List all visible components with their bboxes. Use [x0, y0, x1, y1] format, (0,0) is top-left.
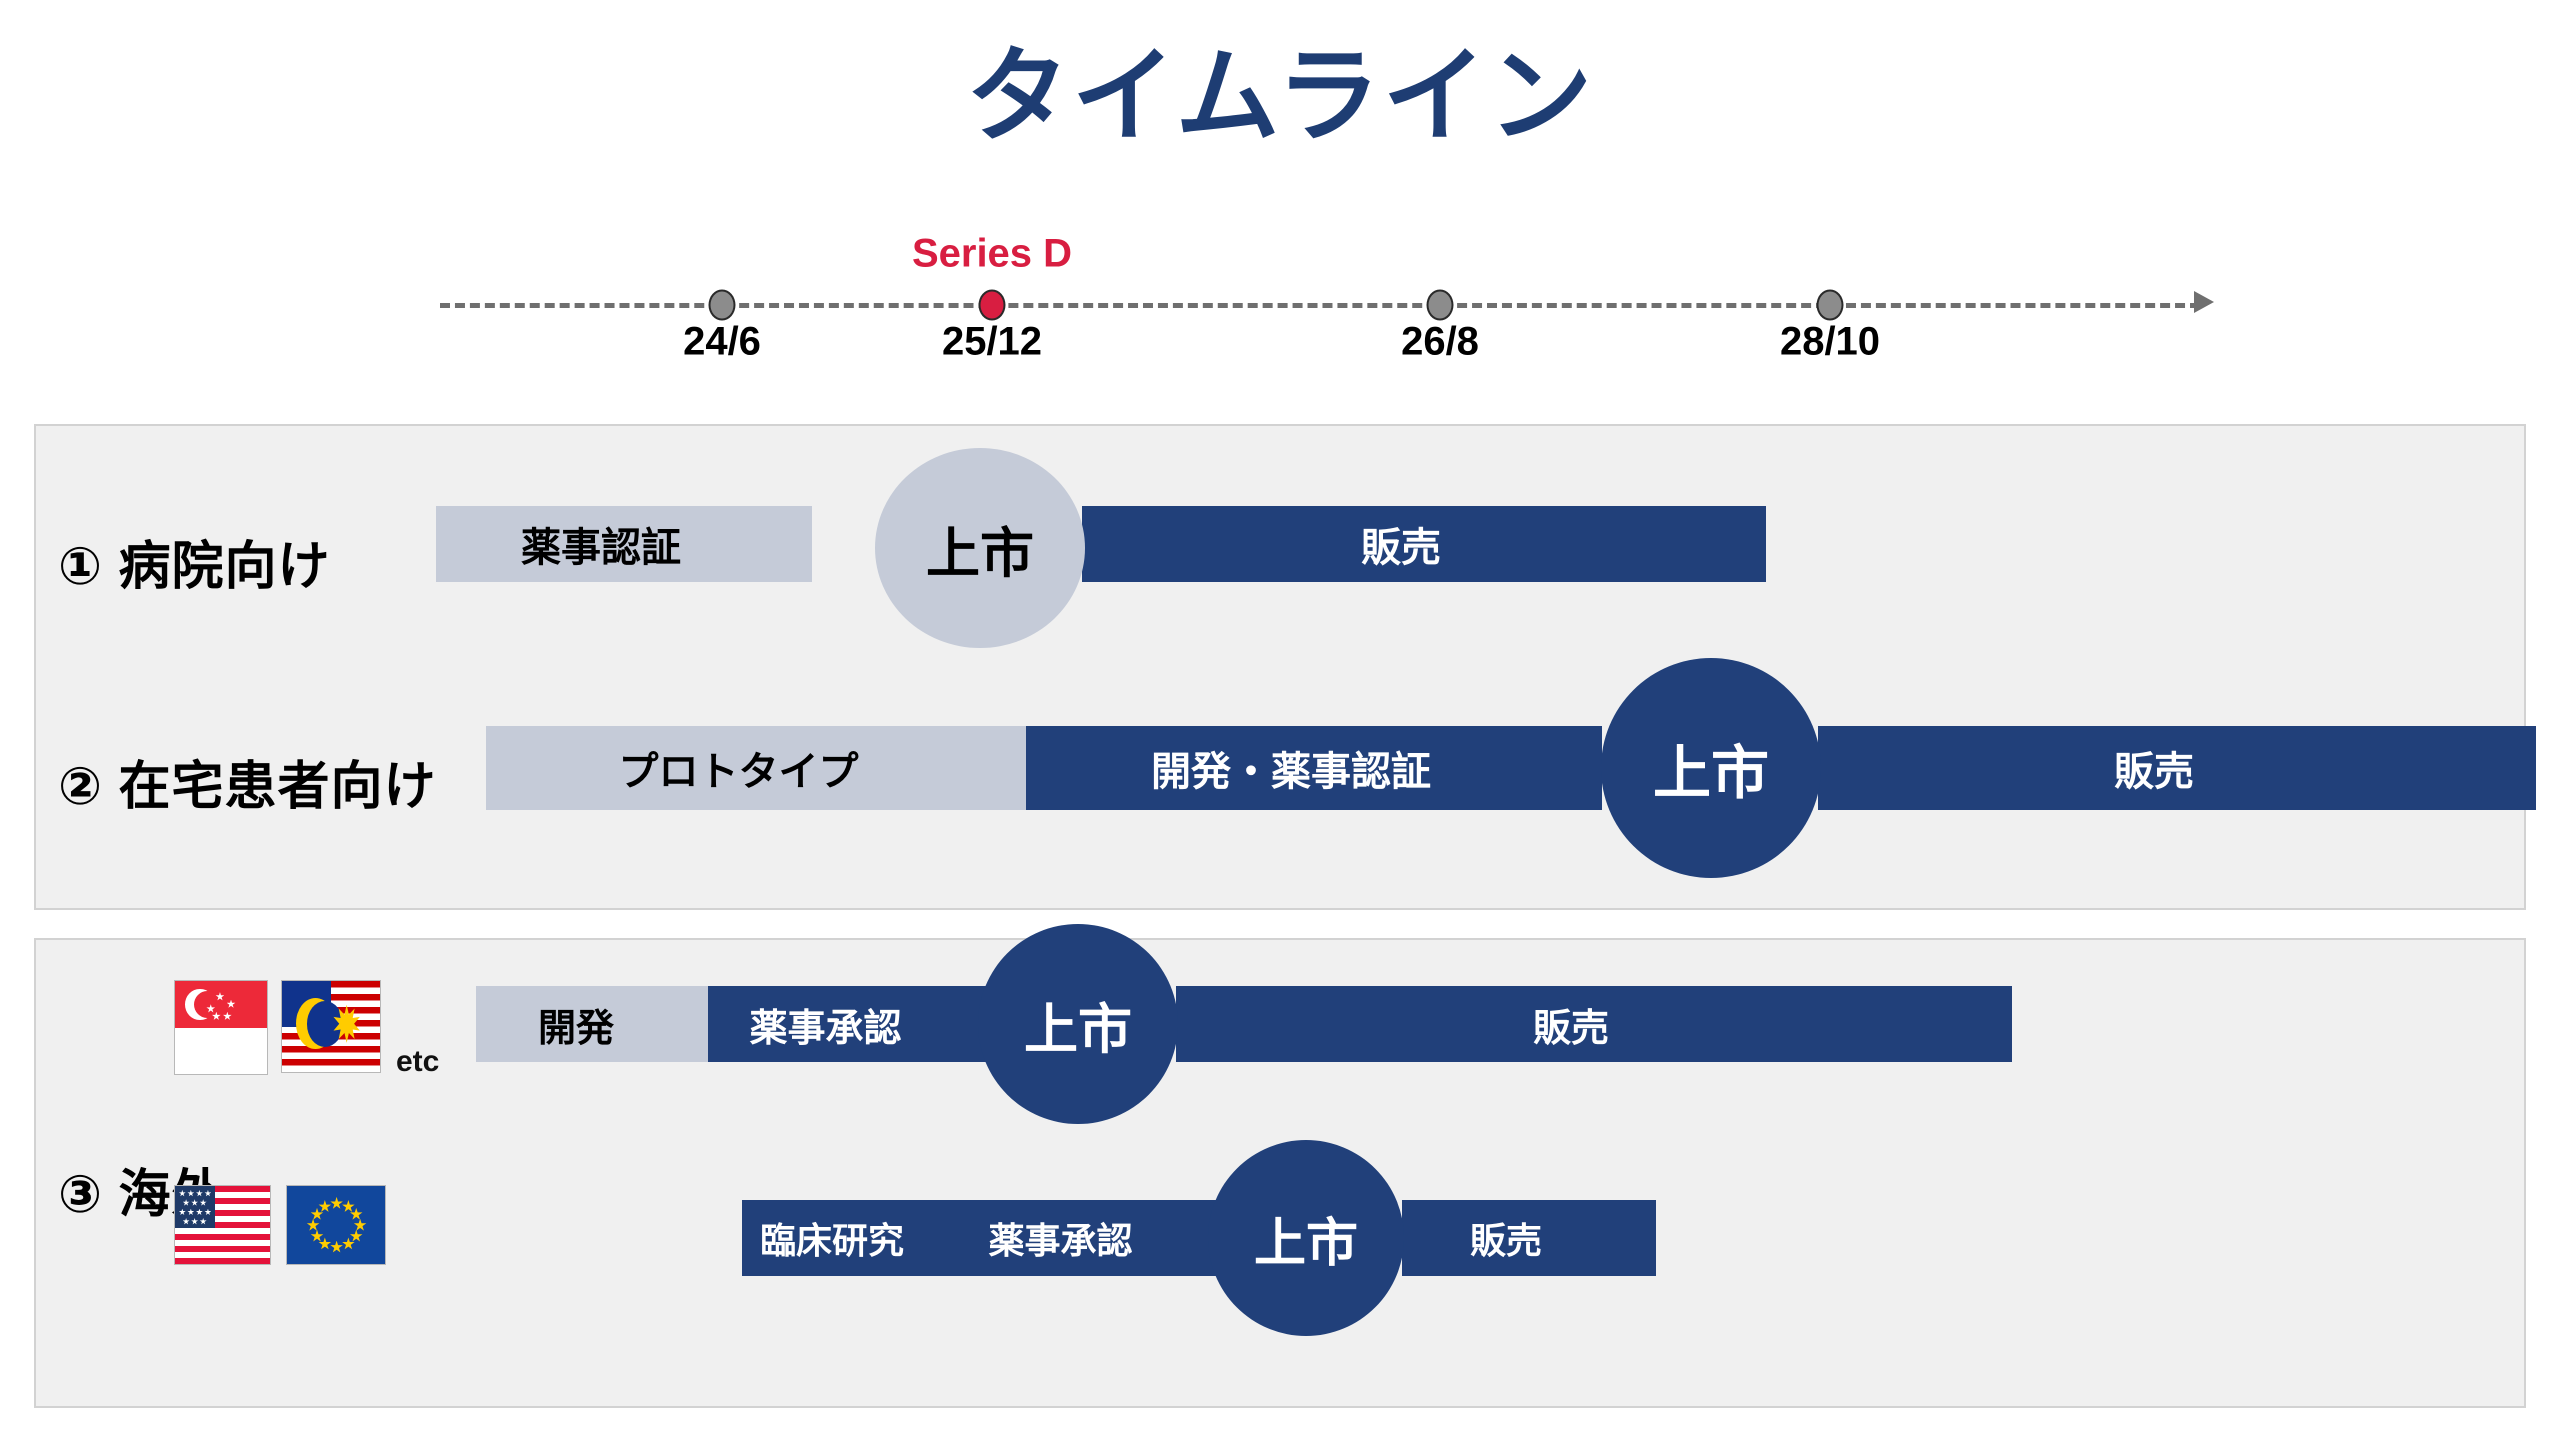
launch-circle-overseas-asia[interactable]: 上市 [978, 924, 1178, 1124]
stage-label: 開発・薬事認証 [1151, 739, 1431, 797]
timeline-axis-group: 24/6 Series D 25/12 26/8 28/10 [440, 300, 2200, 310]
stage-home-sales[interactable]: 販売 [1818, 726, 2490, 810]
timeline-dot-icon [1817, 290, 1844, 321]
timeline-caption-series-d: Series D [912, 232, 1072, 277]
timeline-date-label: 28/10 [1780, 320, 1880, 365]
stage-label: 開発 [538, 997, 614, 1052]
row-label-hospital: ① 病院向け [58, 524, 330, 599]
timeline-dot-icon [979, 290, 1006, 321]
timeline-dashed-line [440, 303, 2200, 308]
stage-home-prototype[interactable]: プロトタイプ [486, 726, 991, 810]
stage-overseas-west-clinical[interactable]: 臨床研究 [742, 1200, 922, 1276]
chevron-arrow-icon [1720, 506, 1766, 582]
timeline-date-label: 26/8 [1401, 320, 1479, 365]
panel-domestic: ① 病院向け 薬事認証 上市 販売 ② 在宅患者向け プロトタイプ 開発・薬事認… [34, 424, 2526, 910]
chevron-arrow-icon [1610, 1200, 1656, 1276]
stage-label: 薬事認証 [521, 515, 681, 573]
stage-label: プロトタイプ [619, 739, 859, 797]
chevron-arrow-icon [2490, 726, 2536, 810]
chevron-arrow-icon [1556, 726, 1602, 810]
flag-usa-icon [174, 1185, 271, 1265]
launch-circle-overseas-west[interactable]: 上市 [1208, 1140, 1404, 1336]
flag-eu-icon [286, 1185, 386, 1265]
stage-overseas-asia-development[interactable]: 開発 [476, 986, 676, 1062]
launch-label: 上市 [1254, 1201, 1358, 1276]
stage-label: 販売 [1533, 997, 1609, 1052]
stage-label: 販売 [1470, 1212, 1542, 1264]
stage-overseas-west-approval[interactable]: 薬事承認 [948, 1200, 1173, 1276]
stage-hospital-regulatory[interactable]: 薬事認証 [436, 506, 766, 582]
stage-overseas-asia-sales[interactable]: 販売 [1176, 986, 1966, 1062]
stage-hospital-sales[interactable]: 販売 [1082, 506, 1720, 582]
panel-overseas: ③ 海外 etc 開発 薬事承認 上市 販売 [34, 938, 2526, 1408]
launch-label: 上市 [1653, 726, 1769, 810]
timeline-marker-3[interactable]: 28/10 [1817, 290, 1844, 321]
timeline-dot-icon [1427, 290, 1454, 321]
stage-label: 販売 [2114, 739, 2194, 797]
flag-singapore-icon [174, 980, 268, 1075]
stage-label: 臨床研究 [760, 1212, 904, 1264]
launch-circle-hospital[interactable]: 上市 [875, 448, 1085, 648]
stage-label: 薬事承認 [749, 997, 901, 1052]
stage-overseas-west-sales[interactable]: 販売 [1402, 1200, 1610, 1276]
launch-circle-home-patient[interactable]: 上市 [1601, 658, 1821, 878]
flag-malaysia-icon [281, 980, 381, 1073]
stage-overseas-asia-approval[interactable]: 薬事承認 [708, 986, 943, 1062]
launch-label: 上市 [926, 509, 1034, 588]
timeline-dot-icon [709, 290, 736, 321]
timeline-marker-0[interactable]: 24/6 [709, 290, 736, 321]
row-label-home-patient: ② 在宅患者向け [58, 744, 436, 819]
chevron-arrow-icon [766, 506, 812, 582]
flags-etc-label: etc [396, 1045, 439, 1079]
launch-label: 上市 [1024, 985, 1132, 1064]
timeline-date-label: 24/6 [683, 320, 761, 365]
stage-home-dev-regulatory[interactable]: 開発・薬事認証 [1026, 726, 1556, 810]
page-title: タイムライン [0, 38, 2560, 158]
stage-label: 薬事承認 [988, 1212, 1132, 1264]
chevron-arrow-icon [1966, 986, 2012, 1062]
stage-label: 販売 [1361, 515, 1441, 573]
timeline-marker-2[interactable]: 26/8 [1427, 290, 1454, 321]
timeline-date-label: 25/12 [942, 320, 1042, 365]
timeline-arrow-icon [2194, 291, 2214, 313]
timeline-marker-1[interactable]: Series D 25/12 [979, 290, 1006, 321]
